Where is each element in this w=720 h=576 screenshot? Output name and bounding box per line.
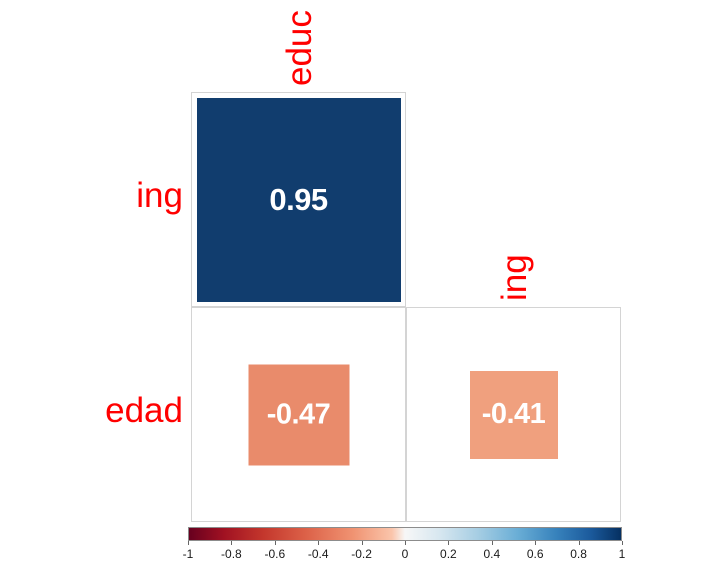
colorbar-tickmark bbox=[579, 541, 580, 545]
colorbar-tickmark bbox=[405, 541, 406, 545]
correlation-square: -0.41 bbox=[470, 371, 558, 459]
row-label-ing: ing bbox=[136, 178, 183, 213]
colorbar-tick-label: 0.6 bbox=[527, 547, 544, 561]
colorbar-tickmark bbox=[535, 541, 536, 545]
correlation-matrix: 0.95 -0.47 -0.41 bbox=[191, 92, 622, 523]
colorbar-tick-label: -1 bbox=[183, 547, 194, 561]
colorbar-tick-labels: -1-0.8-0.6-0.4-0.200.20.40.60.81 bbox=[188, 547, 622, 563]
colorbar-tick-label: 0.8 bbox=[570, 547, 587, 561]
correlation-value: -0.41 bbox=[482, 400, 546, 429]
correlation-value: -0.47 bbox=[267, 400, 331, 429]
correlation-square: -0.47 bbox=[248, 364, 349, 465]
colorbar-legend: -1-0.8-0.6-0.4-0.200.20.40.60.81 bbox=[188, 527, 622, 563]
matrix-cell-ing-educ[interactable]: 0.95 bbox=[191, 92, 406, 307]
colorbar-tick-label: -0.2 bbox=[351, 547, 372, 561]
colorbar-tick-label: -0.6 bbox=[264, 547, 285, 561]
matrix-cell-edad-educ[interactable]: -0.47 bbox=[191, 307, 406, 522]
colorbar-tickmark bbox=[622, 541, 623, 545]
correlation-plot: educ ing ing edad 0.95 -0.47 -0.41 -1-0.… bbox=[0, 0, 720, 576]
row-label-edad: edad bbox=[105, 393, 183, 428]
colorbar-tickmark bbox=[318, 541, 319, 545]
colorbar-tick-label: 0 bbox=[402, 547, 409, 561]
correlation-square: 0.95 bbox=[197, 98, 401, 302]
column-label-educ: educ bbox=[282, 10, 317, 86]
matrix-cell-edad-ing[interactable]: -0.41 bbox=[406, 307, 621, 522]
correlation-value: 0.95 bbox=[269, 184, 327, 215]
colorbar-tickmark bbox=[275, 541, 276, 545]
colorbar-tickmark bbox=[448, 541, 449, 545]
colorbar-tick-label: 0.2 bbox=[440, 547, 457, 561]
colorbar-tick-label: 1 bbox=[619, 547, 626, 561]
colorbar-tick-label: -0.8 bbox=[221, 547, 242, 561]
colorbar-tick-label: -0.4 bbox=[308, 547, 329, 561]
matrix-cell-empty bbox=[406, 92, 621, 307]
colorbar-tick-label: 0.4 bbox=[483, 547, 500, 561]
colorbar-tickmark bbox=[188, 541, 189, 545]
colorbar-tickmark bbox=[231, 541, 232, 545]
colorbar-gradient bbox=[188, 527, 622, 541]
colorbar-tickmark bbox=[492, 541, 493, 545]
colorbar-tickmark bbox=[362, 541, 363, 545]
